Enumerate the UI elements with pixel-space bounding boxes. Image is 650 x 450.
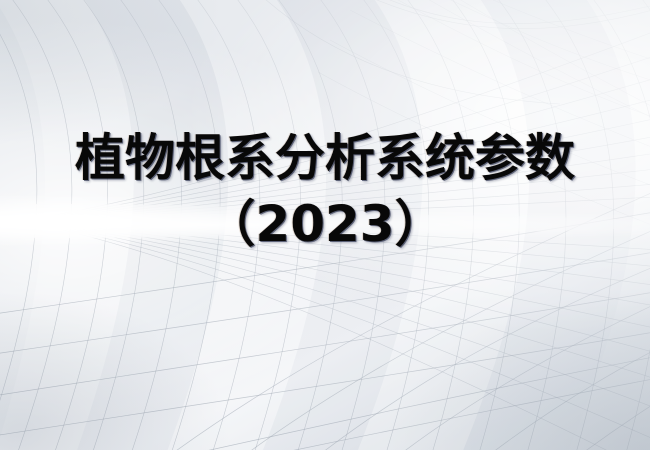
title-line-year: （2023） bbox=[0, 199, 650, 249]
title-block: 植物根系分析系统参数 （2023） bbox=[0, 133, 650, 249]
title-line-primary: 植物根系分析系统参数 bbox=[0, 133, 650, 183]
title-slide: 植物根系分析系统参数 （2023） bbox=[0, 0, 650, 450]
